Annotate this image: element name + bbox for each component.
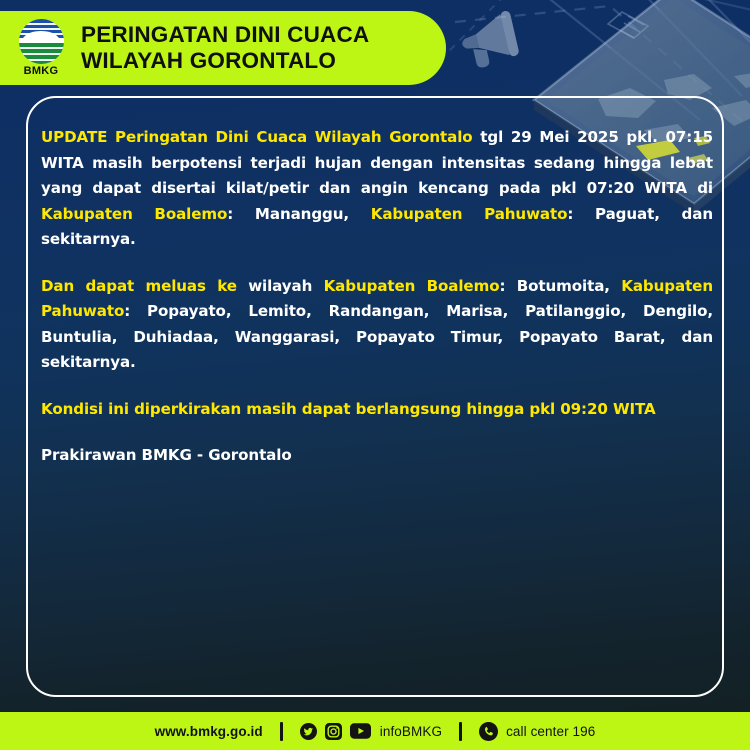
highlighted-text: UPDATE Peringatan Dini Cuaca Wilayah Gor… [41, 128, 473, 146]
highlighted-text: Kabupaten Boalemo [41, 205, 227, 223]
phone-icon [479, 722, 498, 741]
youtube-icon[interactable] [350, 723, 371, 739]
footer-divider-2 [459, 722, 462, 741]
bmkg-logo-icon [19, 19, 64, 64]
warning-card: UPDATE Peringatan Dini Cuaca Wilayah Gor… [26, 96, 724, 697]
page-title-line2: WILAYAH GORONTALO [81, 48, 369, 74]
instagram-icon[interactable] [325, 723, 342, 740]
footer-social-handle[interactable]: infoBMKG [380, 724, 442, 739]
highlighted-text: Kabupaten Boalemo [324, 277, 500, 295]
footer-website[interactable]: www.bmkg.go.id [155, 724, 263, 739]
twitter-icon[interactable] [300, 723, 317, 740]
highlighted-text: Kabupaten Pahuwato [371, 205, 568, 223]
logo-ground [19, 43, 64, 64]
body-text: : Botumoita, [499, 277, 621, 295]
page-title: PERINGATAN DINI CUACA WILAYAH GORONTALO [81, 22, 369, 74]
paragraph-3-duration: Kondisi ini diperkirakan masih dapat ber… [41, 397, 713, 423]
social-icons [300, 723, 371, 740]
footer-divider-1 [280, 722, 283, 741]
highlighted-text: Dan dapat meluas ke [41, 277, 237, 295]
paragraph-1: UPDATE Peringatan Dini Cuaca Wilayah Gor… [41, 125, 713, 253]
footer-bar: www.bmkg.go.id infoBMKG call center 196 [0, 712, 750, 750]
bmkg-logo: BMKG [9, 19, 73, 77]
paragraph-2: Dan dapat meluas ke wilayah Kabupaten Bo… [41, 274, 713, 376]
body-text: : Popayato, Lemito, Randangan, Marisa, P… [41, 302, 713, 371]
signature: Prakirawan BMKG - Gorontalo [41, 443, 713, 469]
page-title-line1: PERINGATAN DINI CUACA [81, 22, 369, 48]
body-text: wilayah [237, 277, 324, 295]
body-text: : Mananggu, [227, 205, 370, 223]
header-banner: BMKG PERINGATAN DINI CUACA WILAYAH GORON… [0, 11, 446, 85]
bmkg-logo-caption: BMKG [24, 65, 59, 77]
footer-call-center[interactable]: call center 196 [506, 724, 595, 739]
weather-warning-poster: BMKG PERINGATAN DINI CUACA WILAYAH GORON… [0, 0, 750, 750]
warning-text-body: UPDATE Peringatan Dini Cuaca Wilayah Gor… [41, 125, 713, 469]
megaphone-icon [457, 10, 520, 71]
